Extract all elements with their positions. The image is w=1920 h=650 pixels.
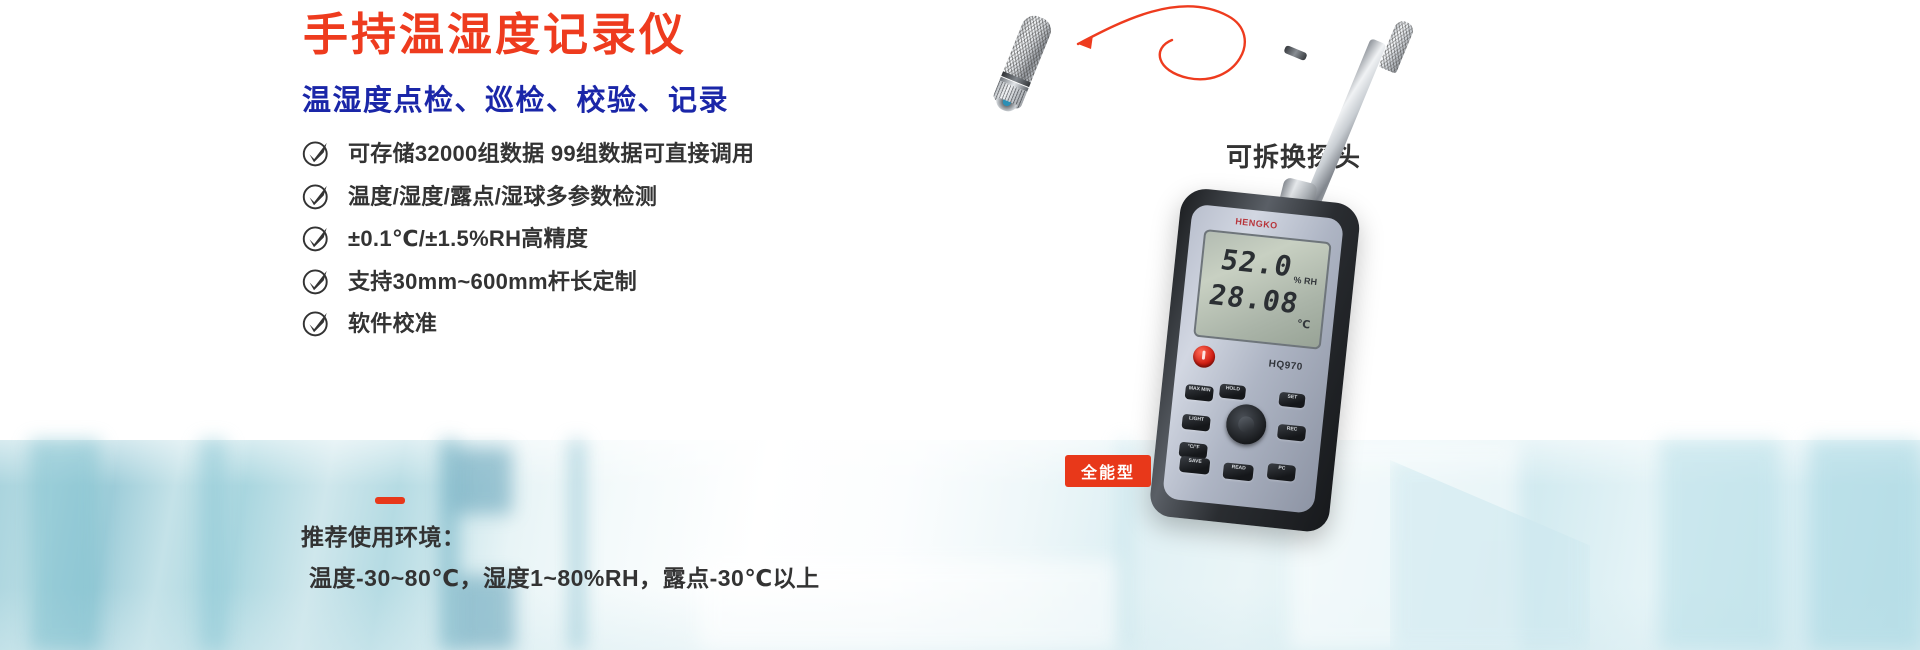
device-body: HENGKO 52.0 % RH 28.08 ℃ HQ970 MAX MIN H… xyxy=(1148,186,1362,533)
bg-shape xyxy=(1660,440,1780,650)
list-item: ±0.1℃/±1.5%RH高精度 xyxy=(302,216,1022,259)
recommendation-detail: 温度-30~80℃，湿度1~80%RH，露点-30℃以上 xyxy=(309,559,820,593)
product-banner: 手持温湿度记录仪 温湿度点检、巡检、校验、记录 可存储32000组数据 99组数… xyxy=(0,0,1920,650)
device-key[interactable]: REC xyxy=(1277,424,1306,442)
device-dpad[interactable] xyxy=(1224,402,1268,446)
device-dpad-center[interactable] xyxy=(1237,416,1255,434)
list-item-label: 软件校准 xyxy=(348,306,437,338)
status-badge: 全能型 xyxy=(1065,455,1151,487)
device-key[interactable]: READ xyxy=(1222,462,1254,481)
list-item-label: ±0.1℃/±1.5%RH高精度 xyxy=(348,221,588,253)
list-item-label: 温度/湿度/露点/湿球多参数检测 xyxy=(348,179,657,211)
list-item-label: 可存储32000组数据 99组数据可直接调用 xyxy=(348,136,754,168)
bg-shape xyxy=(30,440,100,650)
device-key[interactable]: PC xyxy=(1267,463,1297,482)
bg-shape xyxy=(570,440,584,650)
lcd-humidity-value: 52.0 xyxy=(1218,243,1296,283)
check-circle-icon xyxy=(302,223,332,253)
list-item: 温度/湿度/露点/湿球多参数检测 xyxy=(302,174,1022,217)
device-key[interactable]: SET xyxy=(1278,392,1305,409)
list-item: 支持30mm~600mm杆长定制 xyxy=(302,259,1022,302)
bg-shape xyxy=(1810,440,1920,650)
device-model-label: HQ970 xyxy=(1268,358,1303,373)
recommendation-heading: 推荐使用环境： xyxy=(301,518,466,552)
lcd-temperature-value: 28.08 xyxy=(1206,278,1302,320)
lcd-humidity-unit: % RH xyxy=(1293,275,1317,287)
page-title: 手持温湿度记录仪 xyxy=(303,9,687,61)
product-device-image: HENGKO 52.0 % RH 28.08 ℃ HQ970 MAX MIN H… xyxy=(1110,30,1440,630)
banner-bottom-photo-background xyxy=(0,440,1920,650)
lcd-temperature-unit: ℃ xyxy=(1296,317,1311,331)
power-icon[interactable] xyxy=(1192,345,1216,369)
device-lcd-screen: 52.0 % RH 28.08 ℃ xyxy=(1193,229,1332,350)
bg-shape xyxy=(200,440,226,650)
page-subtitle: 温湿度点检、巡检、校验、记录 xyxy=(302,77,729,119)
device-key[interactable]: LIGHT xyxy=(1181,414,1210,432)
device-key[interactable]: MAX MIN xyxy=(1185,384,1214,402)
check-circle-icon xyxy=(302,181,332,211)
brand-label: HENGKO xyxy=(1235,216,1278,230)
device-key[interactable]: SAVE xyxy=(1179,456,1211,475)
device-keypad: MAX MIN HOLD SET LIGHT REC °C/°F SAVE RE… xyxy=(1174,380,1318,493)
device-front-panel: HENGKO 52.0 % RH 28.08 ℃ HQ970 MAX MIN H… xyxy=(1162,204,1344,514)
list-item: 可存储32000组数据 99组数据可直接调用 xyxy=(302,131,1022,174)
bg-shape xyxy=(452,448,512,514)
device-key[interactable]: HOLD xyxy=(1219,384,1246,401)
device-probe-collar xyxy=(1283,45,1307,61)
check-circle-icon xyxy=(302,308,332,338)
list-item: 软件校准 xyxy=(302,301,1022,344)
list-item-label: 支持30mm~600mm杆长定制 xyxy=(348,264,637,296)
red-divider-dash xyxy=(375,497,405,504)
check-circle-icon xyxy=(302,266,332,296)
feature-list: 可存储32000组数据 99组数据可直接调用 温度/湿度/露点/湿球多参数检测 … xyxy=(302,131,1022,344)
check-circle-icon xyxy=(302,138,332,168)
probe-body xyxy=(991,12,1055,112)
